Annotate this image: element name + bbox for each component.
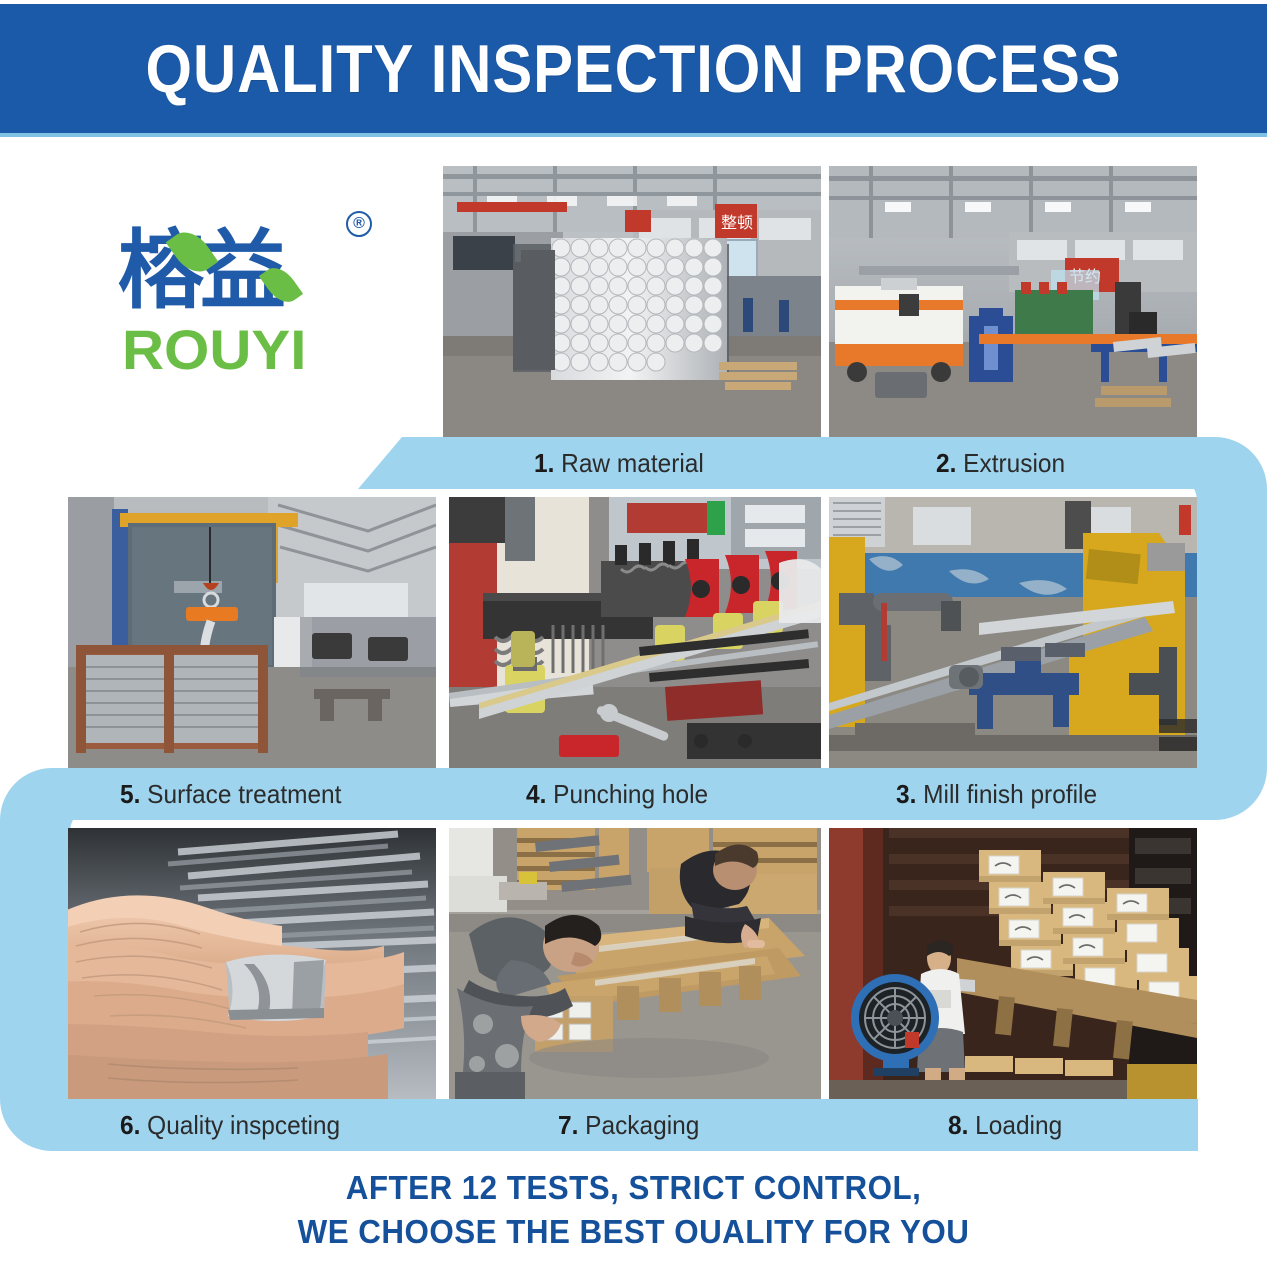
step-photo-punching-hole [449,497,821,768]
caption-band-row-1: 1. Raw material 2. Extrusion [358,437,1198,489]
logo-english-name: ROUYI [122,317,306,382]
registered-trademark-icon: ® [346,211,372,237]
svg-text:整顿: 整顿 [721,213,753,232]
tagline-line-2: WE CHOOSE THE BEST OUALITY FOR YOU [32,1210,1236,1254]
step-photo-raw-material: 整顿 [443,166,821,437]
step-photo-packaging [449,828,821,1099]
caption-step-8: 8. Loading [948,1110,1062,1141]
header-banner: QUALITY INSPECTION PROCESS [0,4,1267,133]
infographic-page: QUALITY INSPECTION PROCESS ® 榕益 ROUYI [0,0,1267,1267]
step-photo-loading [829,828,1197,1099]
caption-step-7: 7. Packaging [558,1110,699,1141]
logo-chinese-name: 榕益 [118,227,348,315]
caption-step-1: 1. Raw material [534,448,704,479]
company-logo: ® 榕益 ROUYI [118,205,378,380]
page-title: QUALITY INSPECTION PROCESS [145,30,1121,108]
step-photo-quality-inspecting [68,828,436,1099]
caption-step-5: 5. Surface treatment [120,779,341,810]
caption-step-2: 2. Extrusion [936,448,1065,479]
caption-band-row-2: 5. Surface treatment 4. Punching hole 3.… [68,768,1198,820]
step-photo-mill-finish-profile [829,497,1197,768]
header-underline [0,133,1267,137]
step-photo-surface-treatment [68,497,436,768]
tagline-line-1: AFTER 12 TESTS, STRICT CONTROL, [32,1166,1236,1210]
bottom-tagline: AFTER 12 TESTS, STRICT CONTROL, WE CHOOS… [0,1166,1267,1254]
caption-step-4: 4. Punching hole [526,779,708,810]
caption-step-3: 3. Mill finish profile [896,779,1097,810]
step-photo-extrusion: 节约 [829,166,1197,437]
caption-band-row-3: 6. Quality inspceting 7. Packaging 8. Lo… [68,1099,1198,1151]
caption-step-6: 6. Quality inspceting [120,1110,340,1141]
